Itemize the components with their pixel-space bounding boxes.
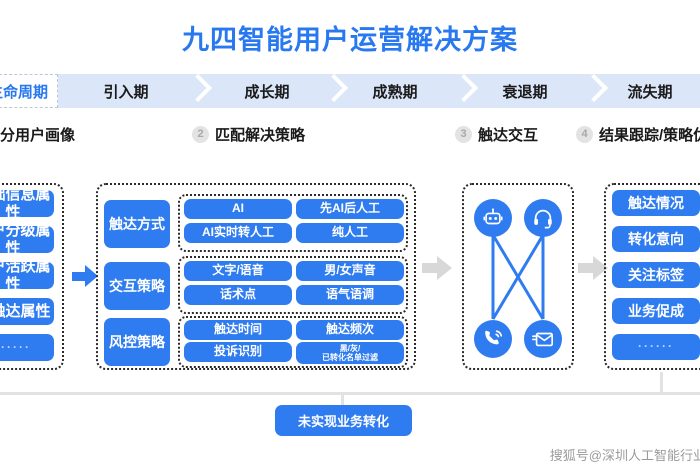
profile-item-2[interactable]: 客户分级属性 (0, 226, 54, 253)
step-number-3: 3 (455, 126, 472, 143)
strategy-cell-complaint[interactable]: 投诉识别 (184, 342, 292, 362)
strategy-label-interaction[interactable]: 交互策略 (104, 262, 170, 310)
strategy-label-risk-control[interactable]: 风控策略 (104, 318, 170, 366)
strategy-cell-list-filter[interactable]: 黑/灰/ 已转化名单过滤 (296, 342, 404, 364)
strategy-cell-voice-gender[interactable]: 男/女声音 (296, 261, 404, 281)
unconverted-business-button[interactable]: 未实现业务转化 (275, 405, 412, 436)
strategy-cell-script-point[interactable]: 话术点 (184, 285, 292, 305)
infographic-canvas: 九四智能用户运营解决方案 用户生命周期 引入期 成长期 成熟期 衰退期 流失期 … (0, 0, 700, 470)
step-title-1: 细分用户画像 (0, 124, 75, 145)
feedback-line-horizontal (0, 392, 700, 395)
result-item-4[interactable]: 业务促成 (612, 298, 700, 324)
result-item-1[interactable]: 触达情况 (612, 190, 700, 216)
profile-item-1[interactable]: 基础信息属性 (0, 190, 54, 217)
lifecycle-stage-1[interactable]: 引入期 (66, 74, 186, 108)
step-header-2: 2 匹配解决策略 (192, 122, 305, 146)
strategy-cell-text-voice[interactable]: 文字/语音 (184, 261, 292, 281)
lifecycle-stage-5[interactable]: 流失期 (600, 74, 700, 108)
strategy-cell-tone[interactable]: 语气语调 (296, 285, 404, 305)
step-header-3: 3 触达交互 (455, 122, 538, 146)
strategy-label-contact-method[interactable]: 触达方式 (104, 200, 170, 248)
result-item-more[interactable]: ······ (612, 334, 700, 360)
result-item-3[interactable]: 关注标签 (612, 262, 700, 288)
email-icon[interactable] (524, 320, 562, 358)
profile-item-3[interactable]: 用户活跃属性 (0, 262, 54, 289)
step-header-4: 4 结果跟踪/策略优化 (576, 122, 700, 146)
step-title-2: 匹配解决策略 (215, 124, 305, 145)
lifecycle-label: 用户生命周期 (0, 74, 58, 108)
profile-item-more[interactable]: ······ (0, 334, 54, 361)
strategy-cell-contact-freq[interactable]: 触达频次 (296, 320, 404, 340)
step-number-2: 2 (192, 126, 209, 143)
lifecycle-stage-2[interactable]: 成长期 (212, 74, 322, 108)
robot-icon[interactable] (474, 199, 512, 237)
step-header-1: 1 细分用户画像 (0, 122, 75, 146)
result-item-2[interactable]: 转化意向 (612, 226, 700, 252)
page-title: 九四智能用户运营解决方案 (0, 18, 700, 57)
arrow-right-icon-blue (72, 265, 98, 287)
feedback-line-vertical (660, 372, 663, 394)
profile-item-4[interactable]: 可触达属性 (0, 298, 54, 325)
strategy-cell-ai[interactable]: AI (184, 199, 292, 219)
lifecycle-stage-4[interactable]: 衰退期 (470, 74, 580, 108)
phone-call-icon[interactable] (474, 320, 512, 358)
strategy-cell-contact-time[interactable]: 触达时间 (184, 320, 292, 340)
step-title-4: 结果跟踪/策略优化 (599, 124, 700, 145)
watermark: 搜狐号@深圳人工智能行业 (550, 445, 700, 464)
step-title-3: 触达交互 (478, 124, 538, 145)
arrow-right-icon-gray-1 (422, 256, 452, 280)
headset-icon[interactable] (524, 199, 562, 237)
step-number-4: 4 (576, 126, 593, 143)
strategy-cell-pure-human[interactable]: 纯人工 (296, 223, 404, 243)
strategy-cell-ai-then-human[interactable]: 先AI后人工 (296, 199, 404, 219)
strategy-cell-ai-to-human[interactable]: AI实时转人工 (184, 223, 292, 243)
lifecycle-stage-3[interactable]: 成熟期 (340, 74, 450, 108)
feedback-line-drop (341, 392, 344, 406)
